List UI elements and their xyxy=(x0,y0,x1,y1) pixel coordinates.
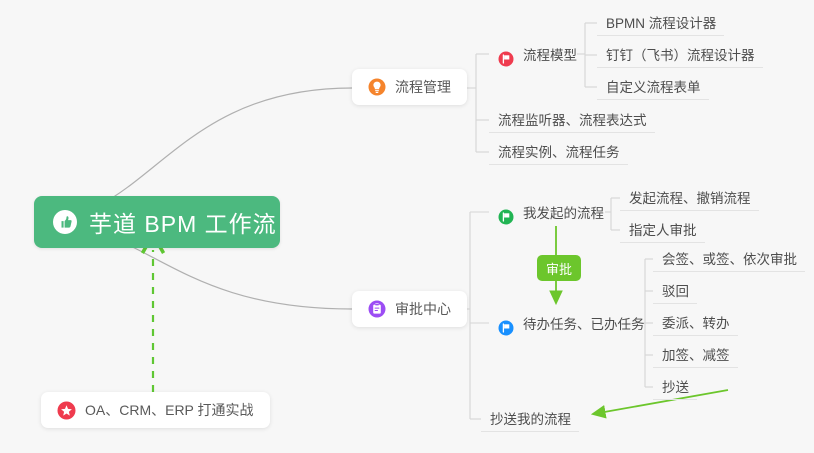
flag-icon xyxy=(498,209,514,225)
node-cc-to-me-process[interactable]: 抄送我的流程 xyxy=(481,406,579,432)
node-my-initiated-process-label: 我发起的流程 xyxy=(523,202,604,225)
clipboard-icon xyxy=(368,300,386,318)
node-bpmn-designer[interactable]: BPMN 流程设计器 xyxy=(597,10,724,36)
branch-process-management-label: 流程管理 xyxy=(395,77,451,97)
node-todo-done-tasks[interactable]: 待办任务、已办任务 xyxy=(489,310,653,336)
node-reject[interactable]: 驳回 xyxy=(653,278,697,304)
node-reject-label: 驳回 xyxy=(662,280,689,303)
node-process-listener-expression[interactable]: 流程监听器、流程表达式 xyxy=(489,107,655,133)
node-countersign-orsign-sequential[interactable]: 会签、或签、依次审批 xyxy=(653,246,805,272)
node-start-cancel-process[interactable]: 发起流程、撤销流程 xyxy=(620,185,759,211)
footnote-node[interactable]: OA、CRM、ERP 打通实战 xyxy=(41,392,270,428)
approval-tag-label: 审批 xyxy=(546,259,572,278)
node-designated-approver-label: 指定人审批 xyxy=(629,219,697,242)
node-add-remove-sign[interactable]: 加签、减签 xyxy=(653,342,738,368)
node-my-initiated-process[interactable]: 我发起的流程 xyxy=(489,199,612,225)
node-carbon-copy-label: 抄送 xyxy=(662,376,689,399)
root-node[interactable]: 芋道 BPM 工作流 xyxy=(34,196,280,248)
branch-approval-center[interactable]: 审批中心 xyxy=(352,291,467,327)
flag-icon xyxy=(498,320,514,336)
lightbulb-icon xyxy=(368,78,386,96)
node-carbon-copy[interactable]: 抄送 xyxy=(653,374,697,400)
node-process-instance-task[interactable]: 流程实例、流程任务 xyxy=(489,139,628,165)
node-dingtalk-feishu-designer-label: 钉钉（飞书）流程设计器 xyxy=(606,44,755,67)
node-countersign-orsign-sequential-label: 会签、或签、依次审批 xyxy=(662,248,797,271)
node-todo-done-tasks-label: 待办任务、已办任务 xyxy=(523,313,645,336)
node-custom-process-form-label: 自定义流程表单 xyxy=(606,76,701,99)
root-node-label: 芋道 BPM 工作流 xyxy=(89,205,277,239)
flag-icon xyxy=(498,51,514,67)
thumbs-up-icon xyxy=(52,209,78,235)
node-delegate-transfer[interactable]: 委派、转办 xyxy=(653,310,738,336)
node-bpmn-designer-label: BPMN 流程设计器 xyxy=(606,12,716,35)
node-start-cancel-process-label: 发起流程、撤销流程 xyxy=(629,187,751,210)
node-dingtalk-feishu-designer[interactable]: 钉钉（飞书）流程设计器 xyxy=(597,42,763,68)
node-process-listener-expression-label: 流程监听器、流程表达式 xyxy=(498,109,647,132)
branch-process-management[interactable]: 流程管理 xyxy=(352,69,467,105)
node-add-remove-sign-label: 加签、减签 xyxy=(662,344,730,367)
node-process-model[interactable]: 流程模型 xyxy=(489,41,585,67)
node-process-model-label: 流程模型 xyxy=(523,44,577,67)
node-custom-process-form[interactable]: 自定义流程表单 xyxy=(597,74,709,100)
node-delegate-transfer-label: 委派、转办 xyxy=(662,312,730,335)
footnote-node-label: OA、CRM、ERP 打通实战 xyxy=(85,400,254,420)
node-designated-approver[interactable]: 指定人审批 xyxy=(620,217,705,243)
node-cc-to-me-process-label: 抄送我的流程 xyxy=(490,408,571,431)
node-process-instance-task-label: 流程实例、流程任务 xyxy=(498,141,620,164)
star-icon xyxy=(57,401,76,420)
approval-tag[interactable]: 审批 xyxy=(537,255,581,281)
mindmap-canvas: 芋道 BPM 工作流 流程管理 流程模型 BPMN 流程设计器 钉钉（飞书）流程… xyxy=(0,0,814,453)
branch-approval-center-label: 审批中心 xyxy=(395,299,451,319)
